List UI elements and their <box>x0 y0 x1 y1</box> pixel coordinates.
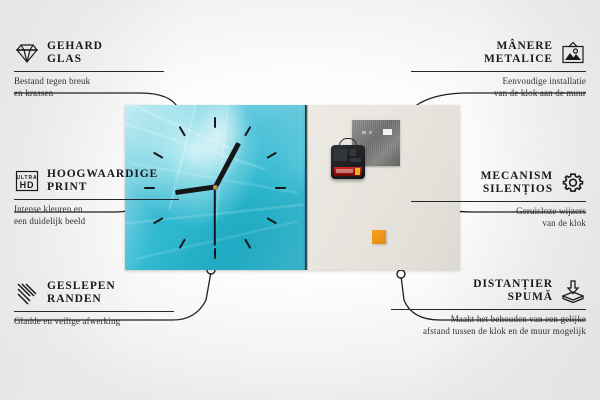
diamond-icon <box>14 41 40 65</box>
callout-hoogwaardige-print: ultra HD HOOGWAARDIGE PRINT Intense kleu… <box>14 168 179 227</box>
callout-geslepen-randen: GESLEPEN RANDEN Gladde en veilige afwerk… <box>14 280 174 328</box>
callout-title-text: GEHARD GLAS <box>47 40 103 66</box>
panel-edge <box>305 105 308 270</box>
callout-subtitle: Bestand tegen breuk en krassen <box>14 76 164 99</box>
callout-title-text: HOOGWAARDIGE PRINT <box>47 168 158 194</box>
battery <box>334 167 362 176</box>
foam-spacer <box>372 230 386 244</box>
callout-subtitle: Eenvoudige installatie van de klok aan d… <box>411 76 586 99</box>
callout-gehard-glas: GEHARD GLAS Bestand tegen breuk en krass… <box>14 40 164 99</box>
spacer-arrow-icon <box>560 279 586 303</box>
clock-tick <box>214 117 216 128</box>
svg-text:HD: HD <box>20 180 35 190</box>
callout-subtitle: Geruisloze wijzers van de klok <box>411 206 586 229</box>
plate-detail <box>362 131 366 134</box>
callout-title: MÂNERE METALICE <box>411 40 586 66</box>
leader-dot-distantier-spuma <box>397 270 405 278</box>
mechanism-detail <box>334 149 347 161</box>
bevelled-edges-icon <box>14 281 40 305</box>
battery-label <box>336 169 353 173</box>
infographic-canvas: GEHARD GLAS Bestand tegen breuk en krass… <box>0 0 600 400</box>
callout-title-text: MECANISM SILENȚIOS <box>481 170 553 196</box>
callout-divider <box>14 71 164 72</box>
framed-picture-icon <box>560 41 586 65</box>
callout-title-text: MÂNERE METALICE <box>484 40 553 66</box>
callout-divider <box>391 309 586 310</box>
callout-subtitle: Maakt het behouden van een gelijke afsta… <box>391 314 586 337</box>
mechanism-detail <box>350 158 361 162</box>
callout-title: ultra HD HOOGWAARDIGE PRINT <box>14 168 179 194</box>
gear-icon <box>560 171 586 195</box>
clock-tick <box>214 248 216 259</box>
callout-title: GESLEPEN RANDEN <box>14 280 174 306</box>
callout-title-text: GESLEPEN RANDEN <box>47 280 116 306</box>
plate-slot <box>383 129 392 135</box>
callout-divider <box>14 311 174 312</box>
clock-tick <box>275 187 286 189</box>
callout-title: DISTANȚIER SPUMĂ <box>391 278 586 304</box>
callout-subtitle: Gladde en veilige afwerking <box>14 316 174 328</box>
clock-mechanism <box>331 145 365 179</box>
callout-manere-metalice: MÂNERE METALICE Eenvoudige installatie v… <box>411 40 586 99</box>
callout-title: GEHARD GLAS <box>14 40 164 66</box>
battery-terminal <box>355 168 360 175</box>
callout-mecanism-silentios: MECANISM SILENȚIOS Geruisloze wijzers va… <box>411 170 586 229</box>
callout-subtitle: Intense kleuren en een duidelijk beeld <box>14 204 179 227</box>
plate-detail <box>369 131 372 134</box>
callout-title: MECANISM SILENȚIOS <box>411 170 586 196</box>
callout-distantier-spuma: DISTANȚIER SPUMĂ Maakt het behouden van … <box>391 278 586 337</box>
callout-divider <box>411 201 586 202</box>
callout-divider <box>411 71 586 72</box>
clock-pivot <box>213 185 218 190</box>
mechanism-detail <box>350 149 356 156</box>
callout-divider <box>14 199 179 200</box>
callout-title-text: DISTANȚIER SPUMĂ <box>473 278 553 304</box>
ultra-hd-icon: ultra HD <box>14 169 40 193</box>
clock-second-hand <box>214 187 216 245</box>
